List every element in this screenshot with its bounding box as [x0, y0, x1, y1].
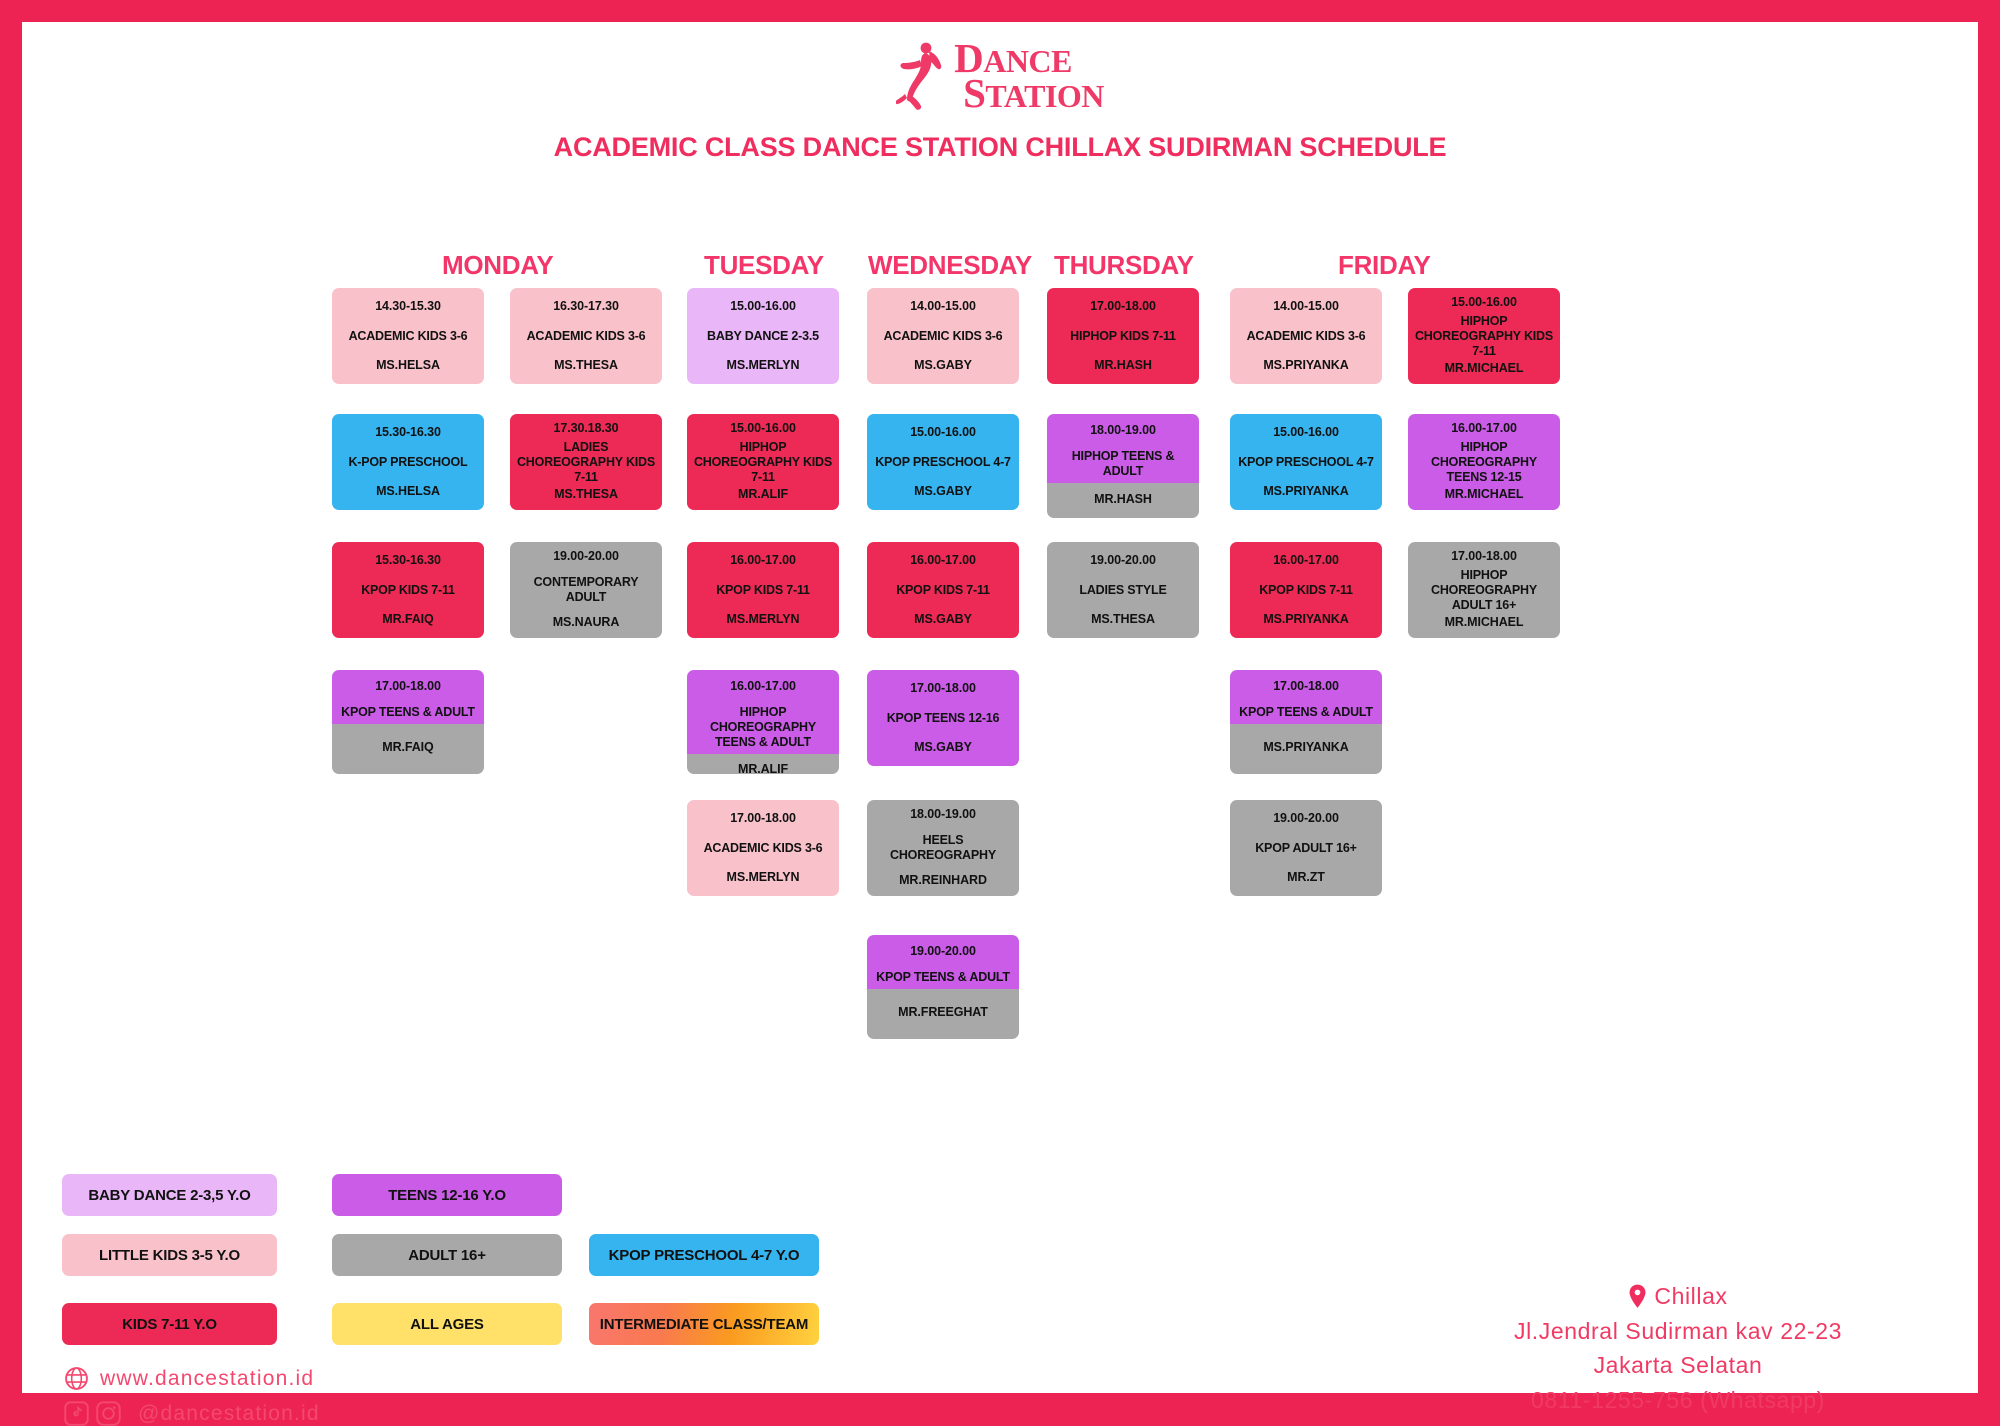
venue-name: Chillax [1654, 1279, 1727, 1314]
class-time: 16.00-17.00 [730, 679, 796, 695]
class-instructor: MR.FAIQ [382, 612, 433, 628]
class-time: 17.30.18.30 [554, 421, 619, 437]
class-card[interactable]: 14.30-15.30ACADEMIC KIDS 3-6MS.HELSA [332, 288, 484, 384]
class-name: HIPHOP CHOREOGRAPHY TEENS & ADULT [692, 705, 834, 750]
class-name: ACADEMIC KIDS 3-6 [1247, 329, 1366, 344]
class-card[interactable]: 16.00-17.00HIPHOP CHOREOGRAPHY TEENS 12-… [1408, 414, 1560, 510]
legend-chip: ALL AGES [332, 1303, 562, 1345]
class-instructor: MR.FREEGHAT [898, 1005, 988, 1021]
class-card[interactable]: 14.00-15.00ACADEMIC KIDS 3-6MS.GABY [867, 288, 1019, 384]
card-color-band: 18.00-19.00HIPHOP TEENS & ADULT [1047, 414, 1199, 483]
class-time: 16.30-17.30 [553, 299, 619, 315]
class-card[interactable]: 15.00-16.00BABY DANCE 2-3.5MS.MERLYN [687, 288, 839, 384]
legend-chip: LITTLE KIDS 3-5 Y.O [62, 1234, 277, 1276]
location-pin-icon [1628, 1284, 1647, 1309]
class-card[interactable]: 19.00-20.00KPOP ADULT 16+MR.ZT [1230, 800, 1382, 896]
card-tutor-band: MS.PRIYANKA [1230, 724, 1382, 774]
card-tutor-band: MR.ALIF [687, 754, 839, 774]
card-tutor-band: MR.HASH [1047, 483, 1199, 518]
class-instructor: MS.GABY [914, 612, 972, 628]
class-name: ACADEMIC KIDS 3-6 [349, 329, 468, 344]
schedule-board: MONDAYTUESDAYWEDNESDAYTHURSDAYFRIDAY14.3… [22, 22, 1978, 1393]
class-name: KPOP TEENS & ADULT [341, 705, 475, 720]
class-time: 19.00-20.00 [553, 549, 619, 565]
class-time: 17.00-18.00 [375, 679, 441, 695]
class-time: 15.00-16.00 [910, 425, 976, 441]
class-instructor: MS.PRIYANKA [1263, 358, 1348, 374]
class-time: 18.00-19.00 [910, 807, 976, 823]
class-instructor: MR.HASH [1094, 492, 1152, 508]
class-instructor: MS.GABY [914, 740, 972, 756]
legend-chip: KIDS 7-11 Y.O [62, 1303, 277, 1345]
legend-chip: BABY DANCE 2-3,5 Y.O [62, 1174, 277, 1216]
class-card[interactable]: 19.00-20.00CONTEMPORARY ADULTMS.NAURA [510, 542, 662, 638]
class-name: KPOP ADULT 16+ [1255, 841, 1357, 856]
class-name: KPOP KIDS 7-11 [361, 583, 455, 598]
class-name: CONTEMPORARY ADULT [515, 575, 657, 605]
class-instructor: MR.ALIF [738, 762, 788, 774]
class-instructor: MS.PRIYANKA [1263, 612, 1348, 628]
class-name: KPOP TEENS & ADULT [876, 970, 1010, 985]
website-text: www.dancestation.id [100, 1367, 314, 1391]
class-card[interactable]: 17.00-18.00HIPHOP KIDS 7-11MR.HASH [1047, 288, 1199, 384]
day-header-monday: MONDAY [442, 250, 553, 281]
class-name: KPOP KIDS 7-11 [716, 583, 810, 598]
class-card[interactable]: 16.00-17.00HIPHOP CHOREOGRAPHY TEENS & A… [687, 670, 839, 774]
class-name: K-POP PRESCHOOL [348, 455, 467, 470]
class-time: 17.00-18.00 [1273, 679, 1339, 695]
class-card[interactable]: 16.00-17.00KPOP KIDS 7-11MS.GABY [867, 542, 1019, 638]
class-time: 16.00-17.00 [1273, 553, 1339, 569]
class-card[interactable]: 15.30-16.30KPOP KIDS 7-11MR.FAIQ [332, 542, 484, 638]
class-time: 19.00-20.00 [910, 944, 976, 960]
class-name: HIPHOP KIDS 7-11 [1070, 329, 1176, 344]
class-name: HIPHOP CHOREOGRAPHY TEENS 12-15 [1413, 440, 1555, 485]
class-instructor: MR.MICHAEL [1445, 487, 1524, 503]
card-color-band: 16.00-17.00HIPHOP CHOREOGRAPHY TEENS & A… [687, 670, 839, 754]
class-instructor: MS.GABY [914, 484, 972, 500]
day-header-friday: FRIDAY [1338, 250, 1431, 281]
class-time: 19.00-20.00 [1090, 553, 1156, 569]
class-card[interactable]: 19.00-20.00KPOP TEENS & ADULTMR.FREEGHAT [867, 935, 1019, 1039]
class-name: KPOP TEENS & ADULT [1239, 705, 1373, 720]
class-name: LADIES CHOREOGRAPHY KIDS 7-11 [515, 440, 657, 485]
class-card[interactable]: 19.00-20.00LADIES STYLEMS.THESA [1047, 542, 1199, 638]
class-instructor: MS.THESA [1091, 612, 1155, 628]
class-card[interactable]: 17.00-18.00HIPHOP CHOREOGRAPHY ADULT 16+… [1408, 542, 1560, 638]
class-time: 18.00-19.00 [1090, 423, 1156, 439]
class-card[interactable]: 16.00-17.00KPOP KIDS 7-11MS.PRIYANKA [1230, 542, 1382, 638]
class-name: ACADEMIC KIDS 3-6 [527, 329, 646, 344]
venue-line: Chillax [1438, 1279, 1918, 1314]
class-time: 14.00-15.00 [910, 299, 976, 315]
card-color-band: 17.00-18.00KPOP TEENS & ADULT [332, 670, 484, 724]
class-name: ACADEMIC KIDS 3-6 [704, 841, 823, 856]
social-row[interactable]: @dancestation.id [64, 1401, 320, 1426]
class-card[interactable]: 16.30-17.30ACADEMIC KIDS 3-6MS.THESA [510, 288, 662, 384]
class-instructor: MR.HASH [1094, 358, 1152, 374]
day-header-tuesday: TUESDAY [704, 250, 824, 281]
class-instructor: MR.REINHARD [899, 873, 987, 889]
class-card[interactable]: 17.00-18.00KPOP TEENS 12-16MS.GABY [867, 670, 1019, 766]
class-name: HIPHOP CHOREOGRAPHY KIDS 7-11 [1413, 314, 1555, 359]
class-card[interactable]: 15.00-16.00KPOP PRESCHOOL 4-7MS.PRIYANKA [1230, 414, 1382, 510]
class-card[interactable]: 17.00-18.00KPOP TEENS & ADULTMS.PRIYANKA [1230, 670, 1382, 774]
class-time: 15.00-16.00 [1273, 425, 1339, 441]
address-line-1: Jl.Jendral Sudirman kav 22-23 [1438, 1314, 1918, 1349]
class-instructor: MS.THESA [554, 358, 618, 374]
phone-number: 0811-1255-756 (Whatsapp) [1438, 1383, 1918, 1418]
legend-chip: KPOP PRESCHOOL 4-7 Y.O [589, 1234, 819, 1276]
legend-chip: TEENS 12-16 Y.O [332, 1174, 562, 1216]
class-name: KPOP KIDS 7-11 [896, 583, 990, 598]
class-instructor: MR.MICHAEL [1445, 615, 1524, 631]
social-handle-text: @dancestation.id [138, 1402, 320, 1426]
class-card[interactable]: 17.30.18.30LADIES CHOREOGRAPHY KIDS 7-11… [510, 414, 662, 510]
class-instructor: MS.NAURA [553, 615, 620, 631]
class-instructor: MS.GABY [914, 358, 972, 374]
class-name: HIPHOP TEENS & ADULT [1052, 449, 1194, 479]
tiktok-icon[interactable] [64, 1401, 89, 1426]
class-card[interactable]: 17.00-18.00KPOP TEENS & ADULTMR.FAIQ [332, 670, 484, 774]
class-name: KPOP TEENS 12-16 [887, 711, 1000, 726]
class-time: 15.00-16.00 [1451, 295, 1517, 311]
class-time: 15.30-16.30 [375, 425, 441, 441]
class-time: 17.00-18.00 [910, 681, 976, 697]
class-instructor: MR.MICHAEL [1445, 361, 1524, 377]
class-instructor: MS.HELSA [376, 358, 440, 374]
class-card[interactable]: 17.00-18.00ACADEMIC KIDS 3-6MS.MERLYN [687, 800, 839, 896]
class-card[interactable]: 18.00-19.00HEELS CHOREOGRAPHYMR.REINHARD [867, 800, 1019, 896]
class-card[interactable]: 15.30-16.30K-POP PRESCHOOLMS.HELSA [332, 414, 484, 510]
class-instructor: MS.MERLYN [727, 870, 800, 886]
class-time: 15.00-16.00 [730, 299, 796, 315]
class-instructor: MR.ZT [1287, 870, 1325, 886]
class-instructor: MR.ALIF [738, 487, 788, 503]
class-time: 14.30-15.30 [375, 299, 441, 315]
class-instructor: MS.THESA [554, 487, 618, 503]
card-tutor-band: MR.FAIQ [332, 724, 484, 774]
class-instructor: MS.MERLYN [727, 612, 800, 628]
class-name: ACADEMIC KIDS 3-6 [884, 329, 1003, 344]
class-time: 16.00-17.00 [730, 553, 796, 569]
card-color-band: 19.00-20.00KPOP TEENS & ADULT [867, 935, 1019, 989]
class-instructor: MS.PRIYANKA [1263, 740, 1348, 756]
card-tutor-band: MR.FREEGHAT [867, 989, 1019, 1039]
address-line-2: Jakarta Selatan [1438, 1348, 1918, 1383]
class-time: 19.00-20.00 [1273, 811, 1339, 827]
class-time: 17.00-18.00 [1090, 299, 1156, 315]
globe-icon [64, 1366, 89, 1391]
website-row[interactable]: www.dancestation.id [64, 1366, 314, 1391]
class-card[interactable]: 14.00-15.00ACADEMIC KIDS 3-6MS.PRIYANKA [1230, 288, 1382, 384]
address-block: Chillax Jl.Jendral Sudirman kav 22-23 Ja… [1438, 1279, 1918, 1417]
card-color-band: 17.00-18.00KPOP TEENS & ADULT [1230, 670, 1382, 724]
class-instructor: MR.FAIQ [382, 740, 433, 756]
class-time: 17.00-18.00 [730, 811, 796, 827]
class-name: HEELS CHOREOGRAPHY [872, 833, 1014, 863]
poster-frame: DANCE STATION ACADEMIC CLASS DANCE STATI… [22, 22, 1978, 1393]
class-time: 15.30-16.30 [375, 553, 441, 569]
class-time: 17.00-18.00 [1451, 549, 1517, 565]
class-name: BABY DANCE 2-3.5 [707, 329, 819, 344]
class-card[interactable]: 18.00-19.00HIPHOP TEENS & ADULTMR.HASH [1047, 414, 1199, 518]
class-time: 16.00-17.00 [910, 553, 976, 569]
class-name: LADIES STYLE [1079, 583, 1166, 598]
class-card[interactable]: 15.00-16.00HIPHOP CHOREOGRAPHY KIDS 7-11… [687, 414, 839, 510]
class-instructor: MS.MERLYN [727, 358, 800, 374]
class-name: KPOP PRESCHOOL 4-7 [875, 455, 1011, 470]
class-card[interactable]: 15.00-16.00HIPHOP CHOREOGRAPHY KIDS 7-11… [1408, 288, 1560, 384]
class-name: KPOP KIDS 7-11 [1259, 583, 1353, 598]
legend-chip: ADULT 16+ [332, 1234, 562, 1276]
day-header-wednesday: WEDNESDAY [868, 250, 1032, 281]
class-time: 15.00-16.00 [730, 421, 796, 437]
day-header-thursday: THURSDAY [1054, 250, 1194, 281]
class-name: KPOP PRESCHOOL 4-7 [1238, 455, 1374, 470]
class-instructor: MS.PRIYANKA [1263, 484, 1348, 500]
class-card[interactable]: 15.00-16.00KPOP PRESCHOOL 4-7MS.GABY [867, 414, 1019, 510]
legend-chip: INTERMEDIATE CLASS/TEAM [589, 1303, 819, 1345]
instagram-icon[interactable] [96, 1401, 121, 1426]
class-time: 16.00-17.00 [1451, 421, 1517, 437]
class-card[interactable]: 16.00-17.00KPOP KIDS 7-11MS.MERLYN [687, 542, 839, 638]
class-name: HIPHOP CHOREOGRAPHY KIDS 7-11 [692, 440, 834, 485]
class-instructor: MS.HELSA [376, 484, 440, 500]
class-name: HIPHOP CHOREOGRAPHY ADULT 16+ [1413, 568, 1555, 613]
class-time: 14.00-15.00 [1273, 299, 1339, 315]
